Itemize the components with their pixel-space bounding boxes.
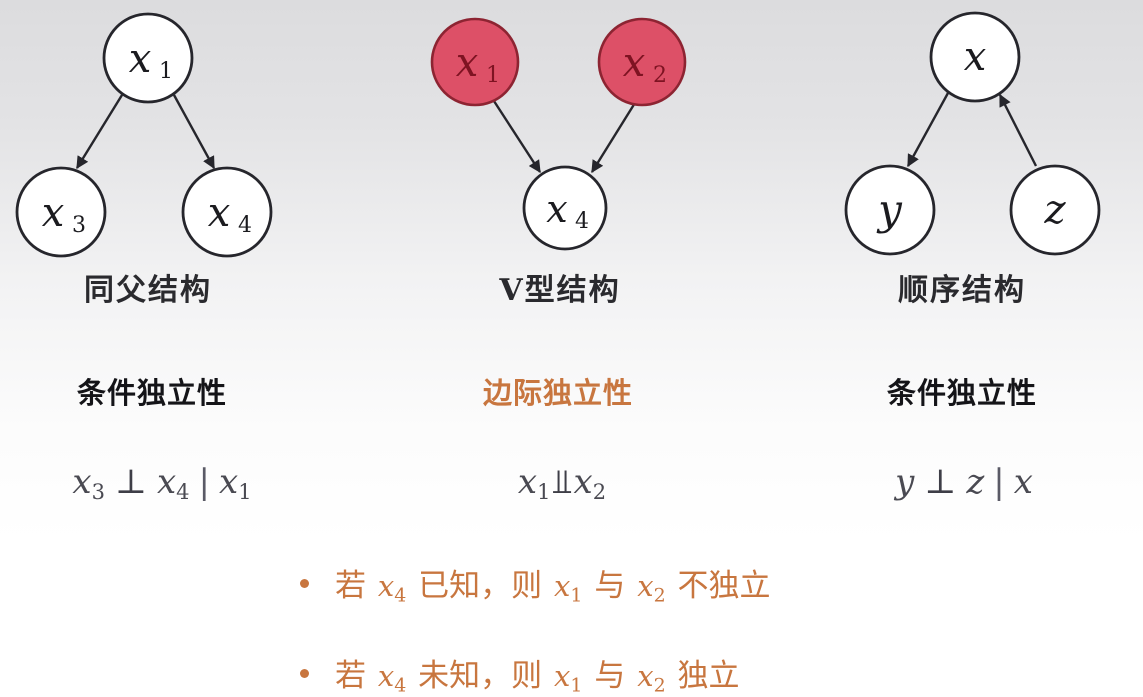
node-x1-label: x [129,36,152,82]
formula-conditional-bar: | [984,462,1013,502]
diagram-sequential: x y z [846,13,1099,254]
formula-right-sub: 4 [176,480,189,504]
formula-common-parent: x3⊥x4|x1 [72,462,251,504]
formula-left-sub: 1 [537,480,550,504]
node-z-label: z [1043,187,1066,233]
bullet-var-sub: 4 [394,585,406,607]
node-x4-middle-sub: 4 [575,209,589,234]
edge-z-to-x [1000,95,1036,166]
node-x3[interactable]: x 3 [17,168,105,256]
property-title-sequential: 条件独立性 [887,370,1037,412]
bullet-text-fragment: 不独立 [668,568,771,604]
node-x4-left-label: x [208,190,231,236]
bullet-text-fragment: 与 [584,658,635,694]
formula-right-sub: 2 [593,480,606,504]
node-x4-left-sub: 4 [238,213,252,238]
edge-x2-to-x4 [592,98,638,172]
formula-right-var: x [574,462,593,502]
property-title-v-structure: 边际独立性 [483,370,633,412]
bullet-text-fragment: 已知，则 [408,568,552,604]
edge-x1-to-x4 [492,98,540,172]
bullet-item-known: 若 x4 已知，则 x1 与 x2 不独立 [300,560,771,607]
bullet-var-base: x [637,569,653,603]
node-x4-left[interactable]: x 4 [183,168,271,256]
bullet-var-base: x [637,659,653,693]
bullet-text-fragment: 独立 [668,658,740,694]
property-title-common-parent: 条件独立性 [77,370,227,412]
node-x-top-label: x [964,34,987,80]
formula-right-var: z [966,462,984,502]
node-x1-red-label: x [456,40,479,86]
bullet-var-sub: 2 [654,585,666,607]
formula-conditional-bar: | [190,462,219,502]
edge-x1-to-x4 [174,95,214,168]
bullet-var-x2: x2 [635,659,667,693]
formula-left-sub: 3 [92,480,105,504]
node-x1-red-sub: 1 [486,63,500,88]
formula-given-sub: 1 [238,480,251,504]
bullet-text-fragment: 未知，则 [408,658,552,694]
formula-left-var: x [518,462,537,502]
node-x2-red-sub: 2 [653,63,667,88]
bullet-var-base: x [378,659,394,693]
bullet-var-sub: 2 [654,675,666,697]
bullet-var-base: x [378,569,394,603]
bullet-text-unknown: 若 x4 未知，则 x1 与 x2 独立 [335,650,740,697]
bullet-text-fragment: 若 [335,568,376,604]
bullet-var-sub: 1 [570,675,582,697]
bullet-dot-icon [300,579,309,588]
slide-canvas: x 1 x 3 x 4 [0,0,1143,696]
bullet-var-sub: 4 [394,675,406,697]
node-y[interactable]: y [846,166,934,254]
node-x4-middle-label: x [546,187,567,231]
formula-sequential: y⊥z|x [895,462,1033,502]
caption-common-parent: 同父结构 [84,265,212,309]
bullet-text-fragment: 与 [584,568,635,604]
node-x1-sub: 1 [159,59,173,84]
bullet-var-sub: 1 [570,585,582,607]
formula-left-var: y [895,462,914,502]
formula-given-var: x [219,462,238,502]
node-x1[interactable]: x 1 [104,14,192,102]
bullet-var-x2: x2 [635,569,667,603]
node-x2-red-label: x [623,40,646,86]
formula-right-var: x [157,462,176,502]
edge-x-to-y [908,93,948,166]
bullet-var-base: x [554,659,570,693]
bullet-var-x4: x4 [376,659,408,693]
node-x4-middle[interactable]: x 4 [524,167,606,249]
edge-x1-to-x3 [77,95,122,168]
node-x-top[interactable]: x [931,13,1019,101]
bullet-dot-icon [300,669,309,678]
caption-sequential: 顺序结构 [898,265,1026,309]
bullet-var-base: x [554,569,570,603]
formula-left-var: x [72,462,91,502]
node-x3-sub: 3 [72,213,86,238]
diagram-common-parent: x 1 x 3 x 4 [17,14,271,256]
node-x2-red[interactable]: x 2 [599,19,685,105]
bullet-item-unknown: 若 x4 未知，则 x1 与 x2 独立 [300,650,740,697]
bullet-text-known: 若 x4 已知，则 x1 与 x2 不独立 [335,560,771,607]
formula-independence-symbol: ⊥ [105,462,157,502]
node-x3-label: x [42,190,65,236]
formula-independence-symbol: ⫫ [550,462,573,502]
bullet-text-fragment: 若 [335,658,376,694]
formula-v-structure: x1⫫x2 [518,462,606,504]
node-x1-red[interactable]: x 1 [432,19,518,105]
bullet-var-x4: x4 [376,569,408,603]
bullet-var-x1: x1 [552,569,584,603]
bullet-var-x1: x1 [552,659,584,693]
diagram-v-structure: x 1 x 2 x 4 [432,19,685,249]
formula-independence-symbol: ⊥ [914,462,966,502]
formula-given-var: x [1014,462,1033,502]
caption-v-structure: V型结构 [499,265,620,309]
node-z[interactable]: z [1011,166,1099,254]
node-y-label: y [876,185,903,234]
